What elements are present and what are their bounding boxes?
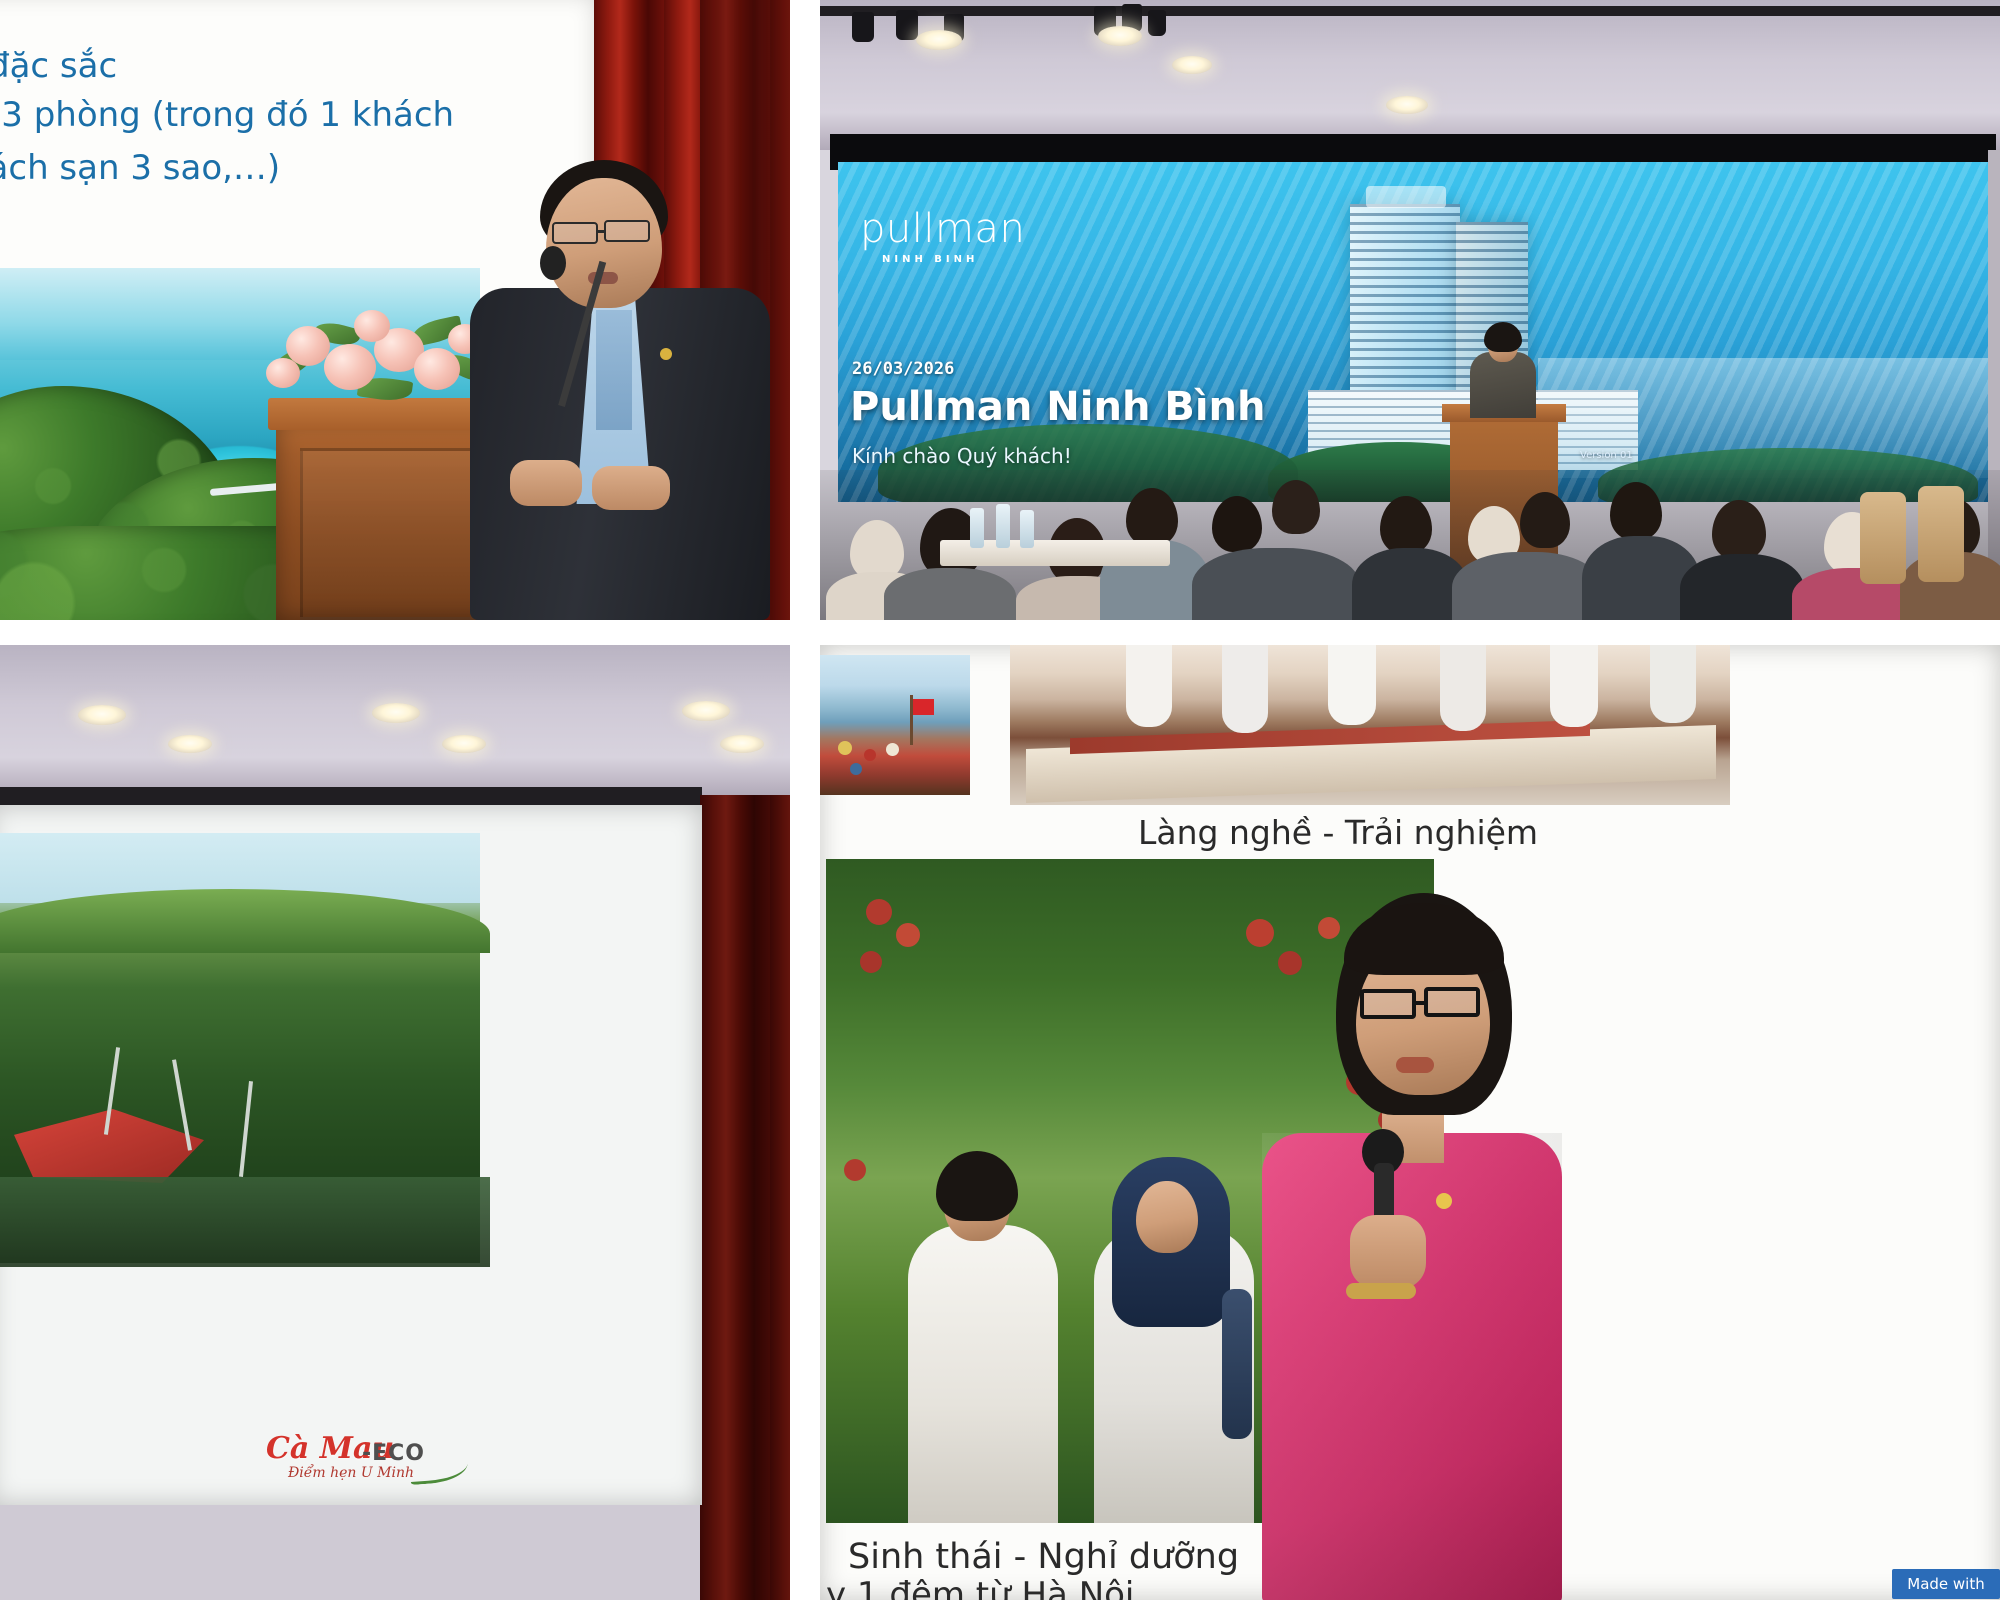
banquet-chair (1860, 492, 1906, 584)
ceiling-downlight (720, 735, 764, 753)
audience-head (1380, 496, 1432, 554)
audience-body (884, 568, 1016, 620)
audience-head (1712, 500, 1766, 560)
led-slide-greeting: Kính chào Quý khách! (852, 444, 1072, 468)
slide-photo-boat-festival (820, 655, 970, 795)
presenter-glasses (1360, 989, 1416, 1019)
orchard-woman-white (908, 1225, 1058, 1523)
speaker-glasses-right (604, 220, 650, 242)
ceiling (820, 0, 2000, 150)
slide-line-3: hách sạn 3 sao,…) (0, 148, 280, 188)
audience-head (1520, 492, 1570, 548)
tower-crown-logo (1366, 186, 1446, 208)
track-spotlight (1148, 10, 1166, 36)
photo-collage: đặc sắc 423 phòng (trong đó 1 khách hách… (0, 0, 2000, 1600)
presenter-mouth (1396, 1057, 1434, 1073)
artisan-arm (1550, 645, 1598, 727)
ceiling-downlight (442, 735, 486, 753)
slide-caption-lang-nghe: Làng nghề - Trải nghiệm (1138, 813, 1538, 852)
artisan-arm (1440, 645, 1486, 731)
pullman-brand-logo: pullman NINH BINH (860, 208, 1025, 265)
artisan-arm (1222, 645, 1268, 733)
water-bottle (1020, 510, 1034, 548)
pullman-wordmark: pullman (860, 208, 1025, 250)
lapel-pin (660, 348, 672, 360)
screen-top-rail (0, 787, 702, 807)
ceiling-downlight (916, 30, 962, 50)
presenter-fringe (1344, 903, 1504, 975)
artisan-arm (1650, 645, 1696, 723)
microphone-head (540, 246, 566, 280)
slide-line-1: đặc sắc (0, 46, 117, 86)
ca-mau-eco-logo: Cà Mau -ECO Điểm hẹn U Minh (266, 1431, 466, 1491)
panel-top-left: đặc sắc 423 phòng (trong đó 1 khách hách… (0, 0, 790, 620)
speaker-hand-right (592, 466, 670, 510)
presenter-lapel-pin (1436, 1193, 1452, 1209)
ceiling-downlight (1098, 26, 1142, 46)
panel-top-right: pullman NINH BINH 26/03/2026 Pullman Nin… (820, 0, 2000, 620)
led-wall: pullman NINH BINH 26/03/2026 Pullman Nin… (838, 162, 1988, 502)
ceiling-downlight (1386, 96, 1428, 114)
audience-head (1126, 488, 1178, 546)
audience-head (1610, 482, 1662, 540)
lighting-track-rail (820, 6, 2000, 16)
track-spotlight (896, 10, 918, 40)
net-pole (239, 1081, 253, 1177)
audience-head (1212, 496, 1262, 552)
track-spotlight (852, 12, 874, 42)
water-bottle (970, 508, 984, 548)
ceiling-downlight (168, 735, 212, 753)
made-with-badge[interactable]: Made with (1892, 1569, 2000, 1599)
audience-head (1272, 480, 1320, 534)
artisan-arm (1328, 645, 1376, 725)
led-slide-version: Version 01 (1580, 450, 1633, 461)
audience-body (1352, 548, 1468, 620)
presenter-bracelet (1346, 1283, 1416, 1299)
eco-logo-tagline: Điểm hẹn U Minh (288, 1465, 414, 1481)
audience-body (1192, 548, 1360, 620)
audience-body (1452, 552, 1602, 620)
speaker-tie-area (596, 310, 632, 430)
panel-bottom-right: Làng nghề - Trải nghiệm Sinh thái - Nghỉ (820, 645, 2000, 1600)
banquet-chair (1918, 486, 1964, 582)
presenter-hair (1484, 322, 1522, 352)
flower-bouquet (262, 300, 492, 410)
presenter-hand (1350, 1215, 1426, 1289)
presenter-ao-dai-shading (1262, 1133, 1562, 1600)
water-bottle (996, 504, 1010, 548)
female-presenter-pink (1240, 863, 1680, 1600)
speaker-hand-left (510, 460, 582, 506)
slide-photo-mangrove (0, 833, 480, 1263)
ceiling-downlight (372, 703, 420, 723)
audience-body (1680, 554, 1804, 620)
pullman-sub-wordmark: NINH BINH (882, 254, 1025, 265)
led-slide-title: Pullman Ninh Bình (850, 384, 1266, 430)
orchard-woman-hijab-head (1136, 1181, 1198, 1253)
flag-pole (910, 695, 913, 745)
slide-line-2: 423 phòng (trong đó 1 khách (0, 95, 454, 135)
ceiling-downlight (1172, 56, 1212, 74)
male-speaker (470, 160, 790, 620)
speaker-glasses (552, 222, 598, 244)
audience-head (850, 520, 904, 580)
ceiling-downlight (78, 705, 126, 725)
river-water (0, 1177, 490, 1267)
slide-photo-weaving (1010, 645, 1730, 805)
presenter-glasses-right (1424, 987, 1480, 1017)
stage-curtain (700, 795, 790, 1600)
led-slide-date: 26/03/2026 (852, 359, 954, 379)
artisan-arm (1126, 645, 1172, 727)
ceiling-downlight (682, 701, 730, 721)
slide-caption-sinh-thai: Sinh thái - Nghỉ dưỡng (848, 1537, 1239, 1577)
panel-bottom-left: Cà Mau -ECO Điểm hẹn U Minh LỊCH SINH TH… (0, 645, 790, 1600)
flag-red (912, 699, 934, 715)
slide-caption-ha-noi: y 1 đêm từ Hà Nội (826, 1575, 1134, 1600)
eco-logo-swoosh (409, 1455, 469, 1485)
orchard-woman-white-hair (936, 1151, 1018, 1221)
